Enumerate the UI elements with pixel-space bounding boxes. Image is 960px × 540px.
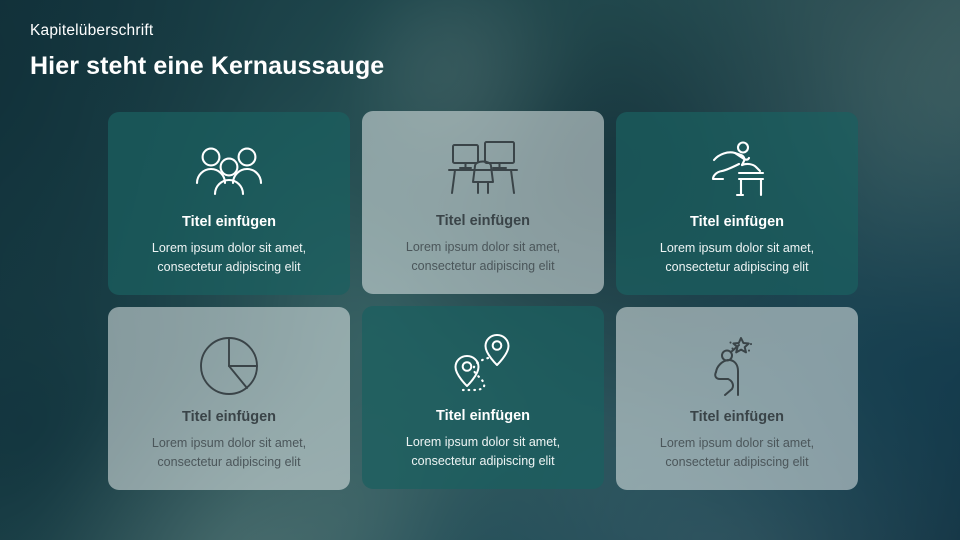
card-title: Titel einfügen	[436, 408, 530, 425]
card-description: Lorem ipsum dolor sit amet, consectetur …	[362, 433, 604, 469]
feature-card[interactable]: Titel einfügen Lorem ipsum dolor sit ame…	[362, 111, 604, 294]
workstation-desk-icon	[445, 133, 521, 207]
hurdle-runner-icon	[701, 134, 773, 208]
card-description: Lorem ipsum dolor sit amet, consectetur …	[108, 239, 350, 275]
feature-card[interactable]: Titel einfügen Lorem ipsum dolor sit ame…	[108, 112, 350, 295]
card-description: Lorem ipsum dolor sit amet, consectetur …	[108, 434, 350, 470]
slide-headline: Hier steht eine Kernaussauge	[30, 51, 670, 81]
card-grid: Titel einfügen Lorem ipsum dolor sit ame…	[108, 111, 858, 492]
chapter-eyebrow: Kapitelüberschrift	[30, 22, 670, 41]
feature-card[interactable]: Titel einfügen Lorem ipsum dolor sit ame…	[108, 307, 350, 490]
slide-header: Kapitelüberschrift Hier steht eine Kerna…	[30, 22, 670, 81]
card-title: Titel einfügen	[182, 214, 276, 231]
feature-card[interactable]: Titel einfügen Lorem ipsum dolor sit ame…	[616, 112, 858, 295]
card-title: Titel einfügen	[436, 213, 530, 230]
feature-card[interactable]: Titel einfügen Lorem ipsum dolor sit ame…	[616, 307, 858, 490]
presentation-slide: Kapitelüberschrift Hier steht eine Kerna…	[0, 0, 960, 540]
feature-card[interactable]: Titel einfügen Lorem ipsum dolor sit ame…	[362, 306, 604, 489]
card-title: Titel einfügen	[182, 409, 276, 426]
pie-chart-icon	[198, 329, 260, 403]
card-title: Titel einfügen	[690, 409, 784, 426]
group-people-icon	[192, 134, 266, 208]
card-title: Titel einfügen	[690, 214, 784, 231]
route-map-pins-icon	[447, 328, 519, 402]
card-description: Lorem ipsum dolor sit amet, consectetur …	[616, 239, 858, 275]
card-description: Lorem ipsum dolor sit amet, consectetur …	[616, 434, 858, 470]
card-description: Lorem ipsum dolor sit amet, consectetur …	[362, 238, 604, 274]
person-reaching-star-icon	[707, 329, 767, 403]
